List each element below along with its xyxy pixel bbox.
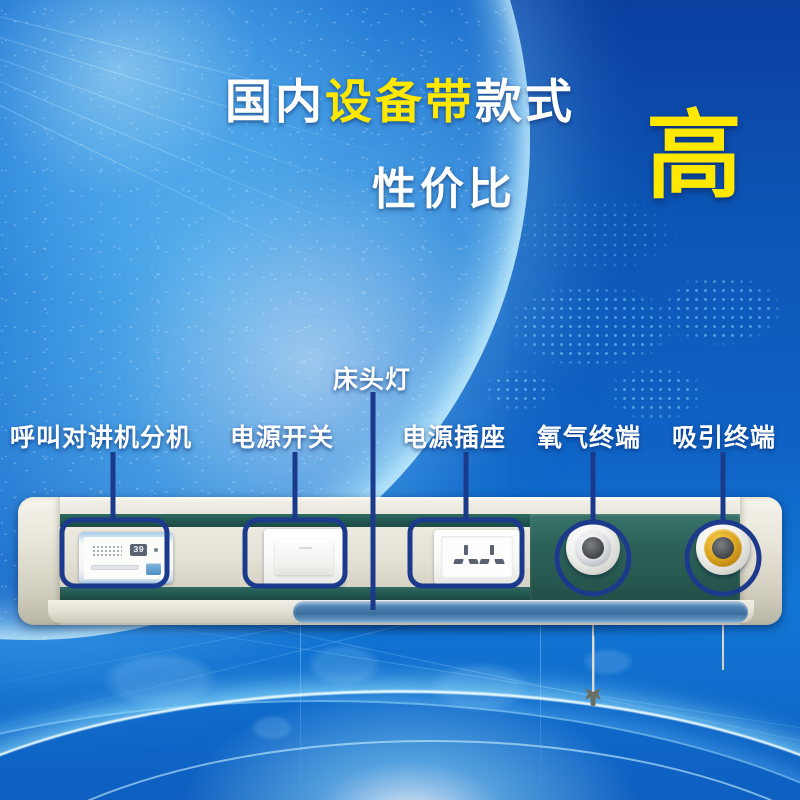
product-banner: 国内设备带款式 性价比 高 39	[0, 0, 800, 800]
callout-label-power-socket: 电源插座	[402, 418, 506, 454]
callout-label-power-switch: 电源开关	[230, 418, 334, 454]
callout-label-nurse-call: 呼叫对讲机分机	[10, 418, 192, 454]
callout-label-suction-outlet: 吸引终端	[672, 418, 776, 454]
callout-label-bed-lamp: 床头灯	[333, 360, 411, 396]
callout-labels: 呼叫对讲机分机 电源开关 床头灯 电源插座 氧气终端 吸引终端	[0, 0, 800, 800]
callout-label-oxygen-outlet: 氧气终端	[537, 418, 641, 454]
